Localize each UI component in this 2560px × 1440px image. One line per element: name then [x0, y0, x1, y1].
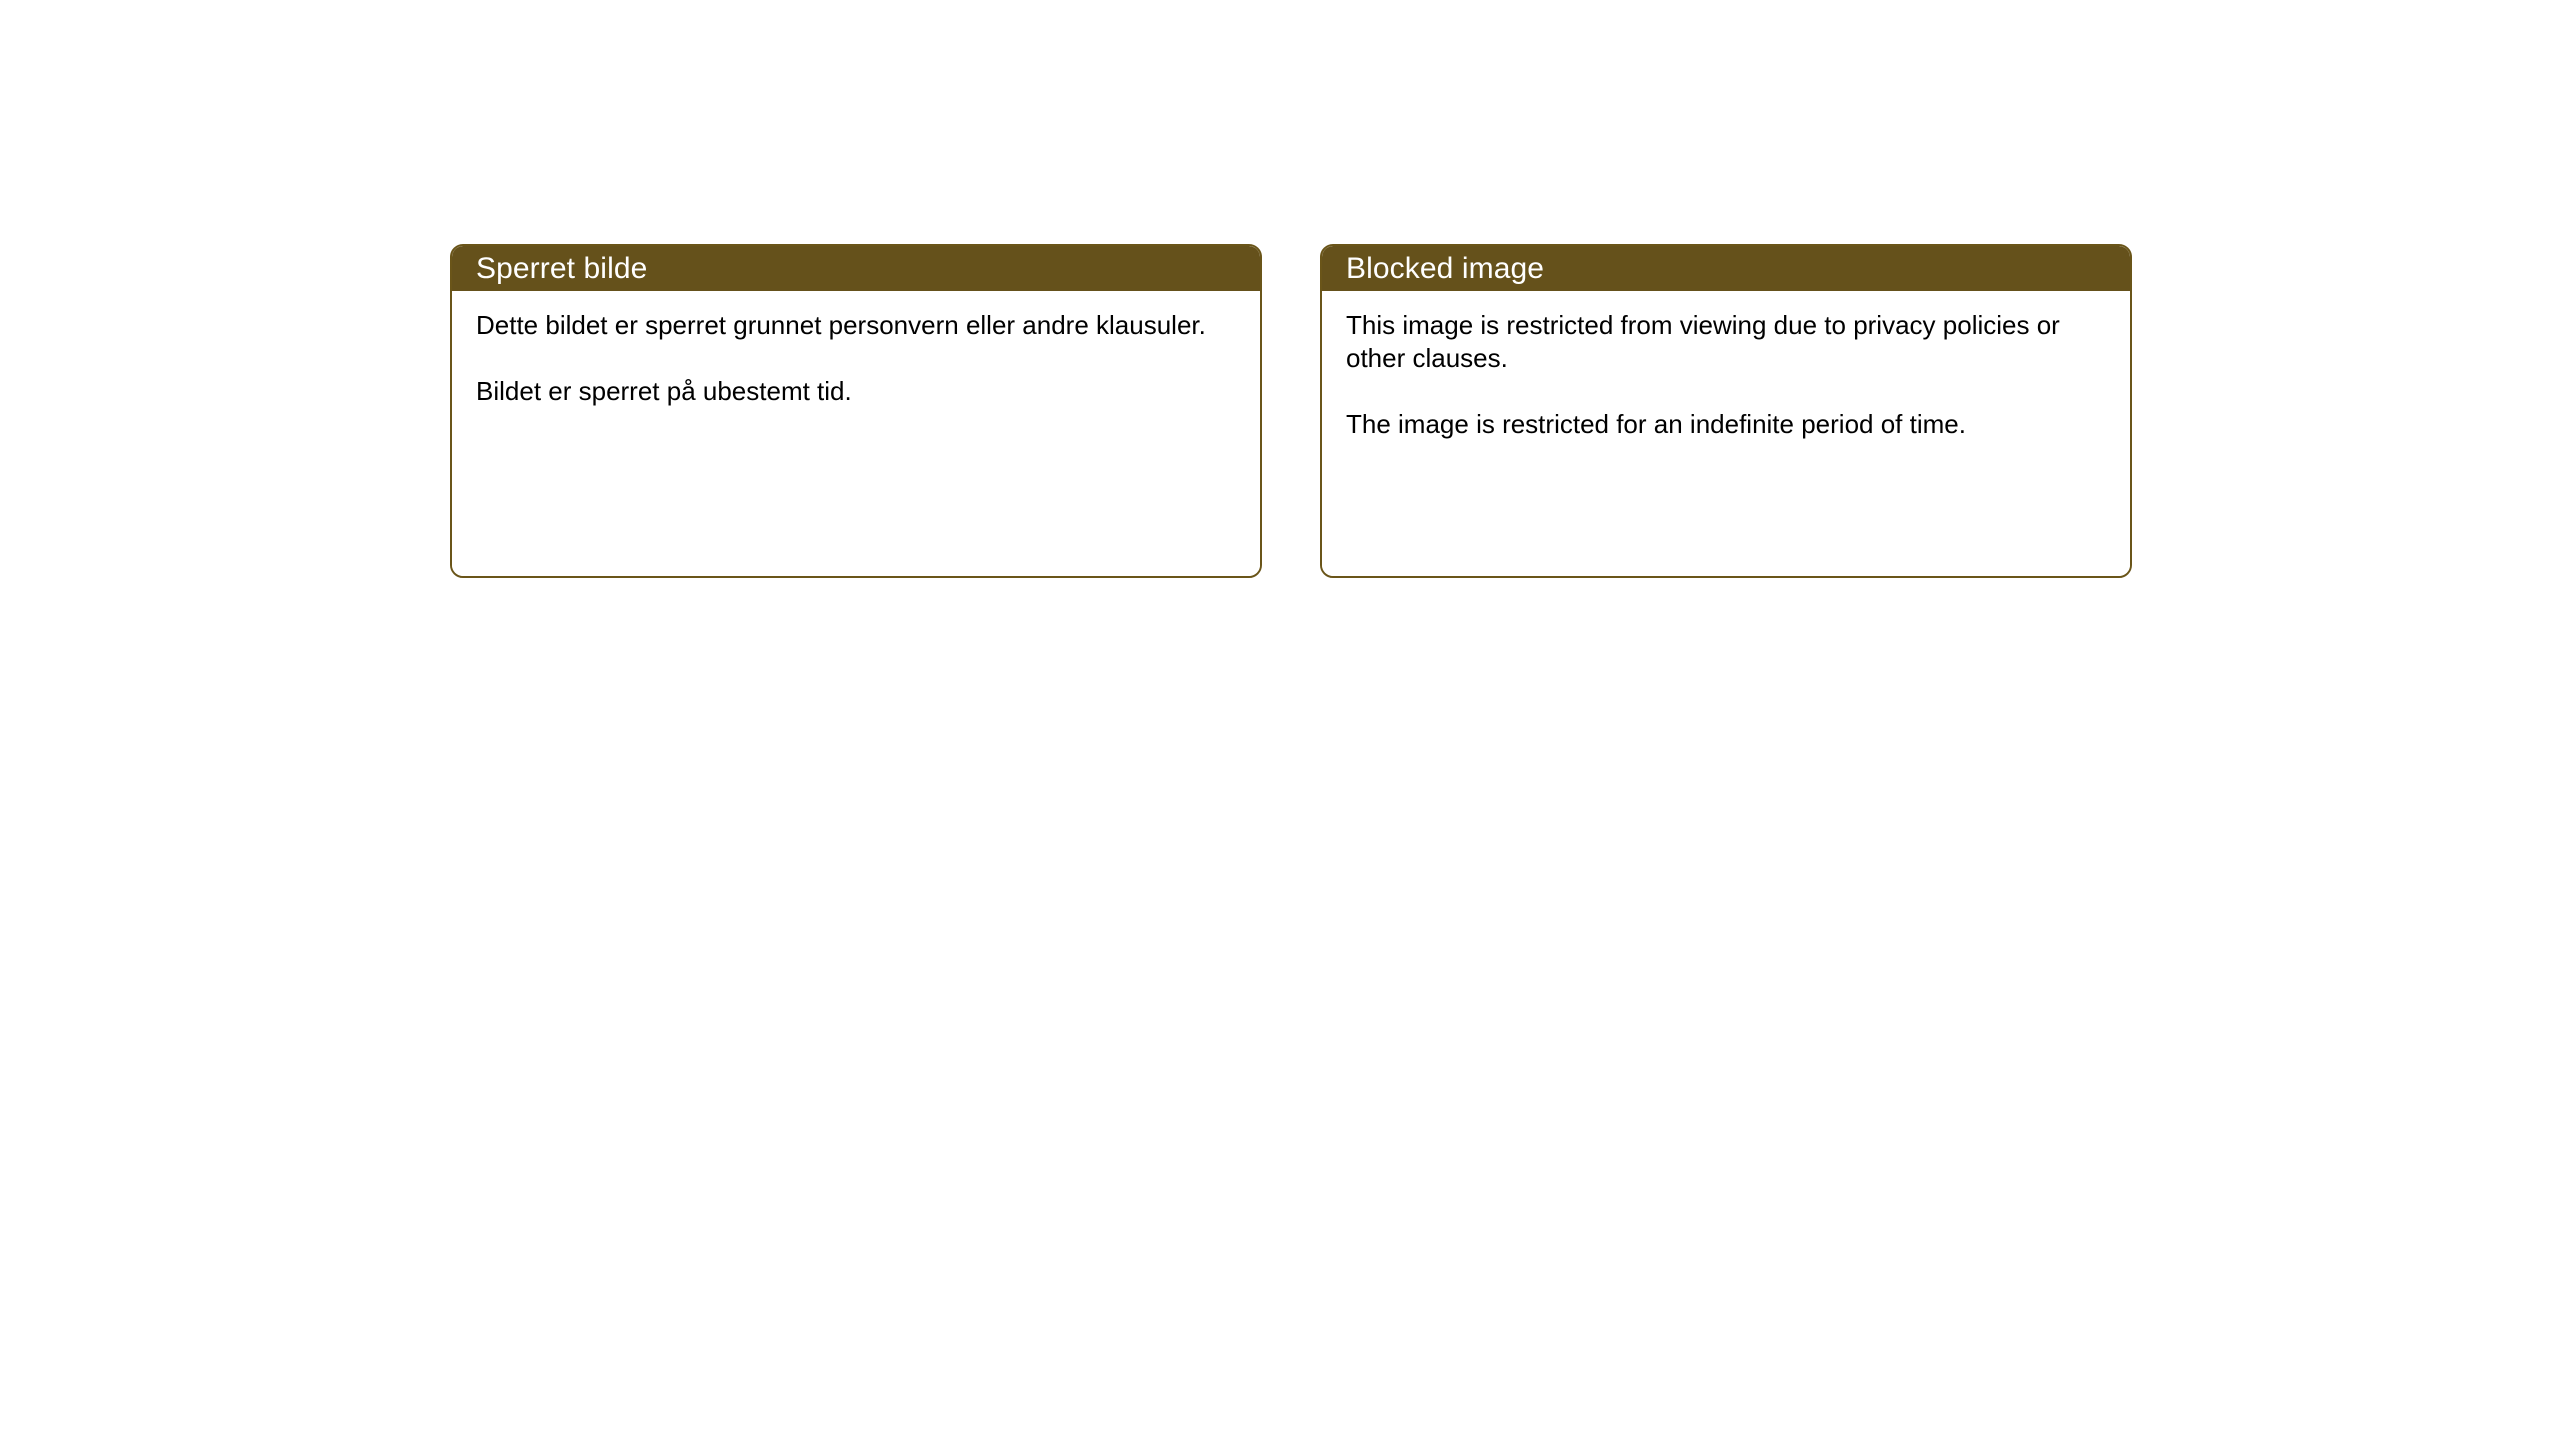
- blocked-image-notice-card-en: Blocked image This image is restricted f…: [1320, 244, 2132, 578]
- card-title-no: Sperret bilde: [476, 252, 647, 286]
- card-body-no: Dette bildet er sperret grunnet personve…: [452, 291, 1260, 576]
- card-header-en: Blocked image: [1322, 246, 2130, 291]
- card-title-en: Blocked image: [1346, 252, 1544, 286]
- card-paragraph-no-1: Dette bildet er sperret grunnet personve…: [476, 309, 1216, 342]
- card-paragraph-en-1: This image is restricted from viewing du…: [1346, 309, 2086, 375]
- notice-card-group: Sperret bilde Dette bildet er sperret gr…: [450, 244, 2132, 578]
- card-paragraph-no-2: Bildet er sperret på ubestemt tid.: [476, 375, 1216, 408]
- blocked-image-notice-card-no: Sperret bilde Dette bildet er sperret gr…: [450, 244, 1262, 578]
- page-canvas: Sperret bilde Dette bildet er sperret gr…: [0, 0, 2560, 1440]
- card-paragraph-en-2: The image is restricted for an indefinit…: [1346, 408, 2086, 441]
- paragraph-spacer-no: [476, 342, 1234, 375]
- card-header-no: Sperret bilde: [452, 246, 1260, 291]
- card-body-en: This image is restricted from viewing du…: [1322, 291, 2130, 576]
- paragraph-spacer-en: [1346, 375, 2104, 408]
